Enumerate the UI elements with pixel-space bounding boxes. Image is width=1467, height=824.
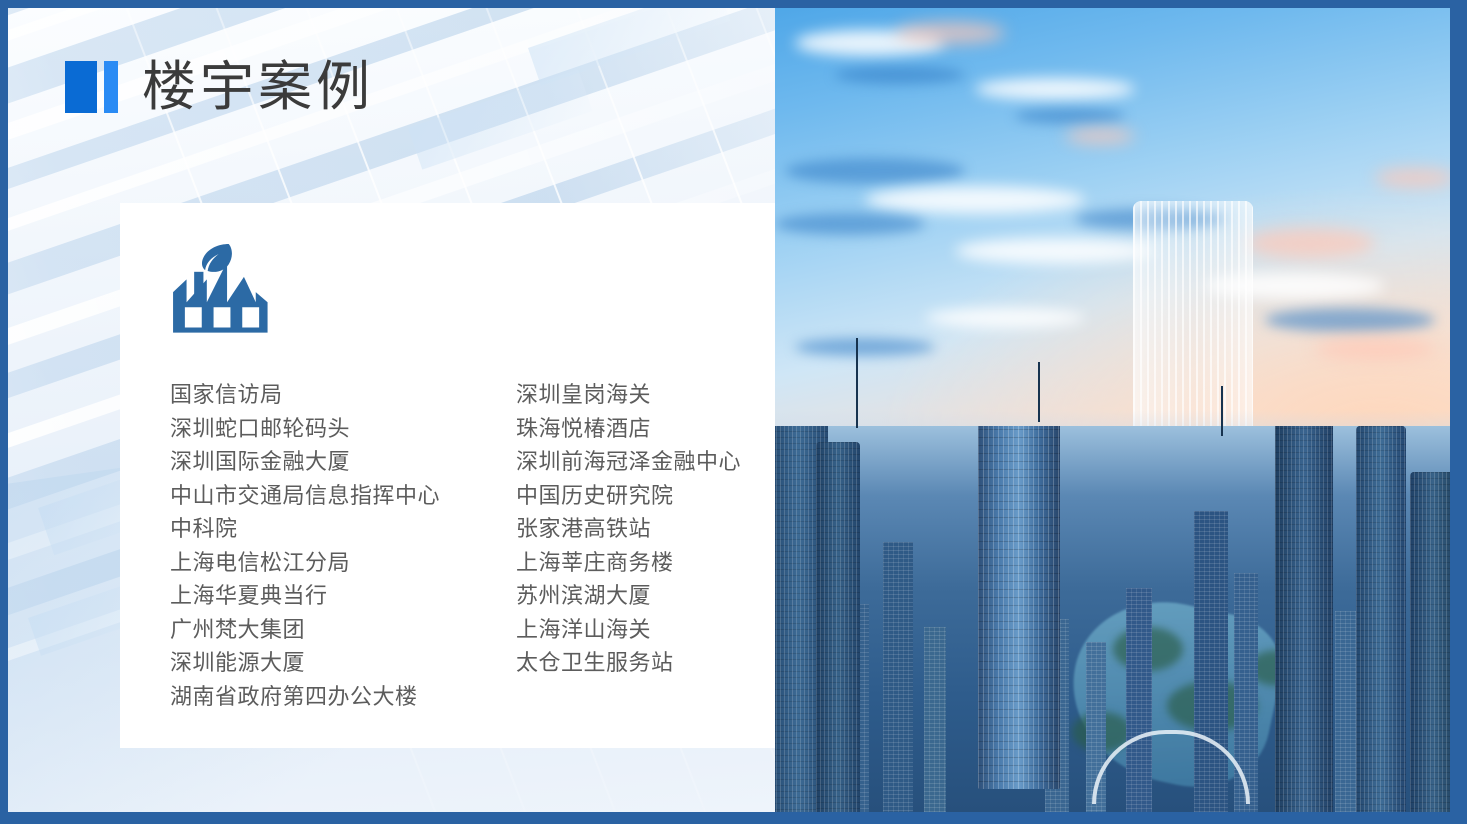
sky-gradient bbox=[775, 8, 1450, 458]
page-title: 楼宇案例 bbox=[65, 60, 374, 114]
slide-canvas: 楼宇案例 bbox=[8, 8, 1450, 812]
antenna-spire bbox=[856, 338, 858, 428]
case-list-left: 国家信访局 深圳蛇口邮轮码头 深圳国际金融大厦 中山市交通局信息指挥中心 中科院… bbox=[170, 378, 440, 713]
title-accent-bar-wide bbox=[65, 61, 97, 113]
list-item: 太仓卫生服务站 bbox=[516, 646, 741, 680]
list-item: 中山市交通局信息指挥中心 bbox=[170, 479, 440, 513]
list-item: 深圳能源大厦 bbox=[170, 646, 440, 680]
list-item: 湖南省政府第四办公大楼 bbox=[170, 680, 440, 714]
title-accent-bar-thin bbox=[104, 61, 118, 113]
antenna-spire bbox=[1221, 386, 1223, 436]
title-label: 楼宇案例 bbox=[142, 60, 374, 114]
case-list-right: 深圳皇岗海关 珠海悦椿酒店 深圳前海冠泽金融中心 中国历史研究院 张家港高铁站 … bbox=[516, 378, 741, 713]
cityscape bbox=[775, 426, 1450, 812]
list-item: 中国历史研究院 bbox=[516, 479, 741, 513]
list-item: 张家港高铁站 bbox=[516, 512, 741, 546]
list-item: 广州梵大集团 bbox=[170, 613, 440, 647]
list-item: 深圳蛇口邮轮码头 bbox=[170, 412, 440, 446]
case-lists: 国家信访局 深圳蛇口邮轮码头 深圳国际金融大厦 中山市交通局信息指挥中心 中科院… bbox=[170, 378, 741, 713]
central-tower bbox=[978, 426, 1060, 789]
eco-factory-icon bbox=[168, 233, 276, 341]
list-item: 上海华夏典当行 bbox=[170, 579, 440, 613]
list-item: 上海电信松江分局 bbox=[170, 546, 440, 580]
frame-bottom bbox=[0, 812, 1467, 824]
list-item: 上海莘庄商务楼 bbox=[516, 546, 741, 580]
list-item: 深圳前海冠泽金融中心 bbox=[516, 445, 741, 479]
list-item: 中科院 bbox=[170, 512, 440, 546]
list-item: 上海洋山海关 bbox=[516, 613, 741, 647]
frame-left bbox=[0, 0, 8, 824]
city-skyline-photo bbox=[775, 8, 1450, 812]
list-item: 深圳皇岗海关 bbox=[516, 378, 741, 412]
list-item: 国家信访局 bbox=[170, 378, 440, 412]
frame-top bbox=[0, 0, 1467, 8]
antenna-spire bbox=[1038, 362, 1040, 422]
content-card: 国家信访局 深圳蛇口邮轮码头 深圳国际金融大厦 中山市交通局信息指挥中心 中科院… bbox=[120, 203, 775, 748]
frame-right bbox=[1450, 0, 1467, 824]
list-item: 深圳国际金融大厦 bbox=[170, 445, 440, 479]
list-item: 珠海悦椿酒店 bbox=[516, 412, 741, 446]
list-item: 苏州滨湖大厦 bbox=[516, 579, 741, 613]
slide-root: 楼宇案例 bbox=[0, 0, 1467, 824]
